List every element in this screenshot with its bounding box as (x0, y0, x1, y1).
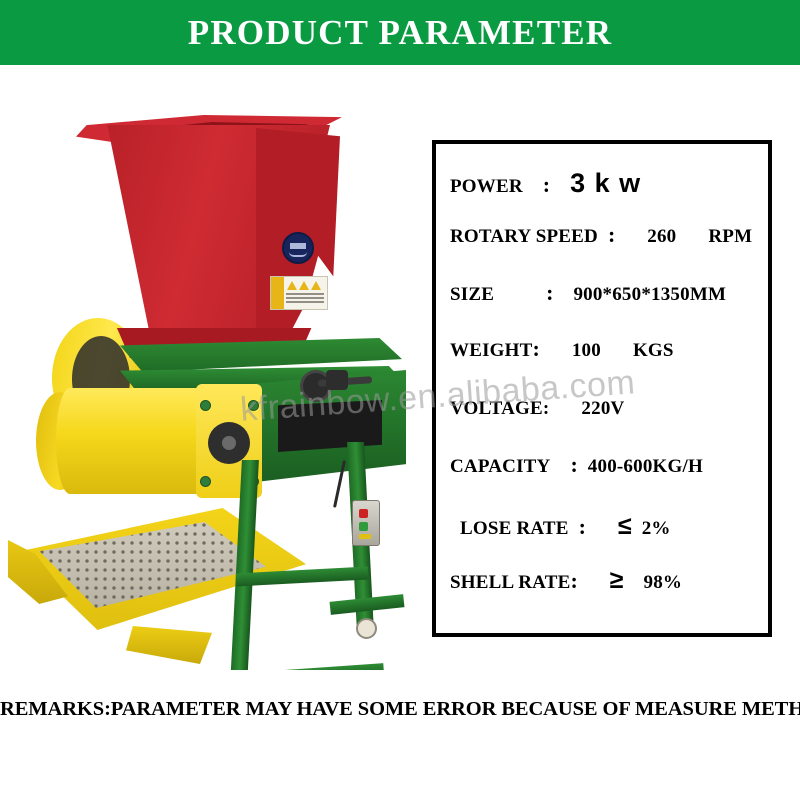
parameter-label: CAPACITY (450, 456, 550, 478)
greater-than-or-equal-icon: ≥ (610, 568, 624, 593)
bolt (200, 400, 211, 411)
product-parameter-page: PRODUCT PARAMETER (0, 0, 800, 800)
parameter-value: 400-600KG/H (588, 456, 703, 478)
parameter-row-power: POWER : 3 k w (450, 168, 641, 199)
frame-foot-front (186, 663, 385, 670)
manufacturer-logo-icon (282, 232, 314, 264)
parameter-value: 900*650*1350MM (573, 284, 726, 306)
parameter-unit: RPM (708, 226, 752, 248)
parameter-value: 100 (572, 340, 601, 362)
discharge-chute (126, 626, 212, 664)
parameter-label: SHELL RATE (450, 572, 570, 594)
parameter-row-capacity: CAPACITY : 400-600KG/H (450, 456, 703, 478)
safety-warning-sticker (270, 276, 328, 310)
parameter-value: 3 k w (570, 168, 641, 199)
remarks-text: REMARKS:PARAMETER MAY HAVE SOME ERROR BE… (0, 698, 800, 721)
bolt (200, 476, 211, 487)
page-header-bar: PRODUCT PARAMETER (0, 0, 800, 65)
parameter-unit: KGS (633, 340, 674, 362)
bearing-block (326, 370, 348, 390)
frame-inspection-window (278, 400, 382, 452)
parameter-label: WEIGHT (450, 340, 533, 362)
parameter-label: POWER (450, 176, 523, 198)
parameter-row-lose-rate: LOSE RATE : ≤ 2% (450, 514, 671, 540)
parameter-value: 260 (647, 226, 676, 248)
parameter-table: POWER : 3 k w ROTARY SPEED : 260 RPM SIZ… (432, 140, 772, 637)
parameter-row-size: SIZE : 900*650*1350MM (450, 284, 726, 306)
product-photo (0, 70, 430, 670)
parameter-value: 2% (642, 518, 671, 540)
page-title: PRODUCT PARAMETER (188, 15, 613, 50)
parameter-value: 98% (644, 572, 683, 594)
parameter-label: LOSE RATE (460, 518, 569, 540)
caster-wheel (356, 618, 377, 639)
parameter-label: SIZE (450, 284, 494, 306)
parameter-row-shell-rate: SHELL RATE : ≥ 98% (450, 568, 682, 594)
parameter-row-weight: WEIGHT : 100 KGS (450, 340, 674, 362)
parameter-label: ROTARY SPEED (450, 226, 598, 248)
less-than-or-equal-icon: ≤ (618, 514, 632, 539)
parameter-row-voltage: VOLTAGE: 220V (450, 398, 624, 420)
motor-control-switch-box (352, 500, 380, 546)
parameter-value: 220V (581, 398, 624, 420)
bolt (248, 400, 259, 411)
parameter-row-rotary-speed: ROTARY SPEED : 260 RPM (450, 226, 752, 248)
parameter-label: VOLTAGE: (450, 398, 549, 420)
drum-hub (208, 422, 250, 464)
